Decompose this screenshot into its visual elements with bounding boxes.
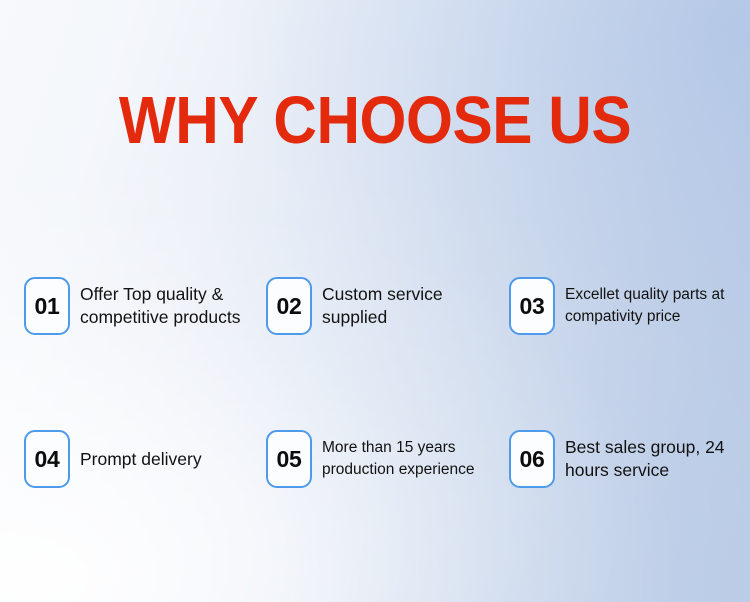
- feature-text-02: Custom service supplied: [322, 283, 443, 329]
- feature-number-badge-01: 01: [24, 277, 70, 335]
- feature-text-01: Offer Top quality & competitive products: [80, 283, 241, 329]
- feature-text-03: Excellet quality parts at compativity pr…: [565, 284, 724, 328]
- why-choose-us-slide: WHY CHOOSE US 01 Offer Top quality & com…: [0, 0, 750, 602]
- feature-item-05: 05 More than 15 years production experie…: [266, 430, 502, 488]
- feature-item-04: 04 Prompt delivery: [24, 430, 260, 488]
- feature-number-badge-02: 02: [266, 277, 312, 335]
- feature-number-badge-03: 03: [509, 277, 555, 335]
- page-title: WHY CHOOSE US: [38, 84, 713, 158]
- feature-number-badge-04: 04: [24, 430, 70, 488]
- feature-text-05: More than 15 years production experience: [322, 437, 475, 481]
- feature-item-03: 03 Excellet quality parts at compativity…: [509, 277, 747, 335]
- feature-item-06: 06 Best sales group, 24 hours service: [509, 430, 747, 488]
- feature-item-01: 01 Offer Top quality & competitive produ…: [24, 277, 260, 335]
- feature-text-06: Best sales group, 24 hours service: [565, 436, 725, 482]
- feature-text-04: Prompt delivery: [80, 448, 202, 471]
- feature-number-badge-06: 06: [509, 430, 555, 488]
- feature-number-badge-05: 05: [266, 430, 312, 488]
- feature-item-02: 02 Custom service supplied: [266, 277, 502, 335]
